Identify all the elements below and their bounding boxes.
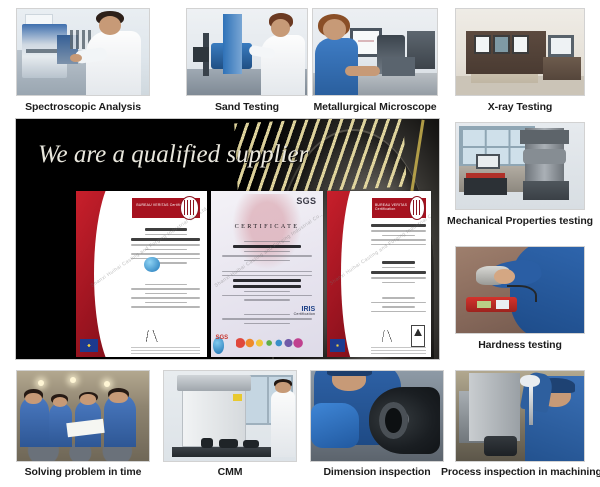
caption-process-inspection-in-machining: Process inspection in machining <box>441 466 599 478</box>
photo-spectroscopic-analysis <box>16 8 150 96</box>
photo-mechanical-properties-testing <box>455 122 585 210</box>
photo-dimension-inspection <box>310 370 444 462</box>
photo-sand-testing <box>186 8 308 96</box>
ukas-badge-icon <box>411 325 424 347</box>
photo-metallurgical-microscope <box>312 8 438 96</box>
photo-card-spectroscopic-analysis: Spectroscopic Analysis <box>16 8 150 118</box>
certificate-bv-iso9001: BUREAU VERITAS Certification Shanxi Huih… <box>327 191 431 357</box>
banner-title: We are a qualified supplier <box>38 141 308 169</box>
photo-card-metallurgical-microscope: Metallurgical Microscope <box>312 8 438 118</box>
certificate-sgs-iris: SGS CERTIFICATE IRIS Certification SGS <box>211 191 323 357</box>
photo-cmm <box>163 370 297 462</box>
hardness-tester-device <box>466 297 517 312</box>
certificate-bv-approval: BUREAU VERITAS Certification Shanxi Huih… <box>76 191 207 357</box>
photo-card-mechanical-properties-testing: Mechanical Properties testing <box>455 122 585 232</box>
photo-card-hardness-testing: Hardness testing <box>455 246 585 356</box>
caption-x-ray-testing: X-ray Testing <box>441 101 599 113</box>
photo-card-solving-problem-in-time: Solving problem in time <box>16 370 150 478</box>
certificates-row: BUREAU VERITAS Certification Shanxi Huih… <box>76 191 431 357</box>
caption-hardness-testing: Hardness testing <box>441 339 599 351</box>
accreditation-badge <box>80 339 98 352</box>
photo-card-sand-testing: Sand Testing <box>186 8 308 118</box>
bureau-veritas-seal-icon <box>409 196 425 220</box>
sgs-logo: SGS <box>296 196 316 206</box>
photo-solving-problem-in-time <box>16 370 150 462</box>
photo-x-ray-testing <box>455 8 585 96</box>
caption-spectroscopic-analysis: Spectroscopic Analysis <box>2 101 164 113</box>
capability-collage: Spectroscopic Analysis Sand Testing <box>0 0 600 487</box>
photo-process-inspection-in-machining <box>455 370 585 462</box>
globe-icon <box>144 257 160 272</box>
caption-dimension-inspection: Dimension inspection <box>296 466 458 478</box>
photo-card-cmm: CMM <box>163 370 297 478</box>
photo-card-x-ray-testing: X-ray Testing <box>455 8 585 118</box>
qualified-supplier-banner: We are a qualified supplier BUREAU VERIT… <box>15 118 440 360</box>
certificate-heading: CERTIFICATE <box>211 223 323 230</box>
bureau-veritas-seal-icon <box>180 196 199 220</box>
signature-mark <box>379 330 402 342</box>
caption-cmm: CMM <box>149 466 311 478</box>
signature-mark <box>142 330 171 342</box>
photo-card-process-inspection-in-machining: Process inspection in machining <box>455 370 585 478</box>
people-graphic <box>236 332 305 354</box>
caption-mechanical-properties-testing: Mechanical Properties testing <box>441 215 599 227</box>
photo-card-dimension-inspection: Dimension inspection <box>310 370 444 478</box>
iris-certification-logo: IRIS Certification <box>277 306 315 329</box>
accreditation-badge <box>330 339 345 352</box>
photo-hardness-testing <box>455 246 585 334</box>
caption-solving-problem-in-time: Solving problem in time <box>2 466 164 478</box>
iris-sublabel: Certification <box>277 313 315 317</box>
caption-metallurgical-microscope: Metallurgical Microscope <box>298 101 452 113</box>
